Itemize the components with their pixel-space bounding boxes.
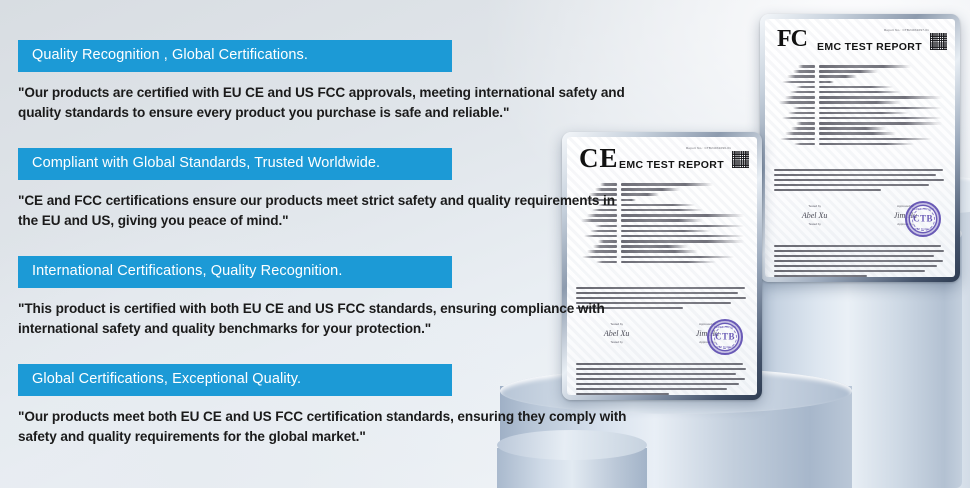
certificate-field-value [819,117,947,120]
signature-tested-by: Tested by Abel Xu Tested by [779,204,850,226]
certificate-field-row [773,86,947,89]
certificate-field-label [773,112,815,115]
certificate-field-row [773,117,947,120]
certificate-field-label [773,122,815,125]
certificate-field-label [773,81,815,84]
certificate-field-label [773,117,815,120]
certificate-field-value [819,127,947,130]
ctb-seal-stamp: CERTIFICATION CTB TEST BUREAU [905,201,941,237]
certificate-field-value [819,96,947,99]
certificate-paper: FC EMC TEST REPORT Report No.: CTB240310… [765,19,955,277]
feature-body-text-3: "This product is certified with both EU … [18,299,638,339]
certificate-field-value [819,101,947,104]
certificate-field-row [773,132,947,135]
seal-arc-top: CERTIFICATION [907,208,939,211]
certificate-field-rows [773,65,947,148]
feature-heading-banner-3: International Certifications, Quality Re… [18,256,452,288]
certificate-field-label [773,132,815,135]
certificate-field-value [819,91,947,94]
certificate-field-value [819,70,947,73]
certificate-text-line [774,255,934,257]
feature-heading-banner-2: Compliant with Global Standards, Trusted… [18,148,452,180]
feature-body-text-1: "Our products are certified with EU CE a… [18,83,638,123]
certificate-field-row [773,70,947,73]
certificate-card-fcc[interactable]: FC EMC TEST REPORT Report No.: CTB240310… [760,14,960,282]
certificate-text-line [774,245,941,247]
signature-caption: Tested by [779,204,850,208]
certificate-field-row [773,143,947,146]
feature-block-3: International Certifications, Quality Re… [18,256,638,339]
certificate-header: FC EMC TEST REPORT Report No.: CTB240310… [765,19,955,63]
certificate-field-row [773,65,947,68]
certificate-field-label [773,127,815,130]
certificate-paragraph [774,169,946,194]
seal-arc-bottom: TEST BUREAU [907,228,939,231]
certificate-text-line [774,270,925,272]
certificate-field-label [773,107,815,110]
certificate-report-number: Report No.: CTB24031096-01 [686,146,731,150]
ctb-seal-stamp: CERTIFICATION CTB TEST BUREAU [707,319,743,355]
certificate-text-line [774,174,936,176]
certificate-field-row [773,81,947,84]
certificate-field-row [773,75,947,78]
feature-block-4: Global Certifications, Exceptional Quali… [18,364,638,447]
certificate-field-value [819,143,947,146]
certificate-field-value [819,81,947,84]
certificate-field-label [773,91,815,94]
certificate-field-label [773,70,815,73]
certificate-text-line [774,250,944,252]
certificate-report-number: Report No.: CTB24031097-01 [884,28,929,32]
seal-arc-top: CERTIFICATION [709,326,741,329]
certificate-text-line [774,184,929,186]
banner-stage: FC EMC TEST REPORT Report No.: CTB240310… [0,0,970,488]
certificate-text-line [774,189,881,191]
certificate-field-row [773,122,947,125]
certificate-text-line [774,265,937,267]
certificate-field-label [773,96,815,99]
marketing-copy-column: Quality Recognition , Global Certificati… [0,0,660,488]
signature-mark: Abel Xu [779,211,850,220]
feature-body-text-2: "CE and FCC certifications ensure our pr… [18,191,638,231]
feature-block-1: Quality Recognition , Global Certificati… [18,40,638,123]
qr-code-icon [732,151,749,168]
certificate-footer-paragraph [774,245,946,277]
seal-arc-bottom: TEST BUREAU [709,346,741,349]
certificate-field-value [819,86,947,89]
seal-text: CTB [715,332,735,342]
certificate-field-row [773,91,947,94]
certificate-field-value [819,138,947,141]
certificate-field-label [773,75,815,78]
certificate-field-value [819,122,947,125]
certificate-field-label [773,101,815,104]
certificate-field-row [773,127,947,130]
certificate-field-row [773,101,947,104]
certificate-field-value [819,75,947,78]
certificate-field-value [819,107,947,110]
certificate-field-row [773,138,947,141]
signature-name: Tested by [779,222,850,226]
certificate-field-row [773,107,947,110]
feature-heading-banner-1: Quality Recognition , Global Certificati… [18,40,452,72]
certificate-field-label [773,86,815,89]
feature-heading-banner-4: Global Certifications, Exceptional Quali… [18,364,452,396]
certificate-title: EMC TEST REPORT [817,41,922,53]
certificate-field-label [773,143,815,146]
certificate-field-value [819,112,947,115]
certificate-text-line [774,169,943,171]
qr-code-icon [930,33,947,50]
certificate-field-value [819,132,947,135]
fcc-logo: FC [777,27,807,51]
certificate-field-label [773,65,815,68]
certificate-field-label [773,138,815,141]
certificate-field-row [773,112,947,115]
certificate-field-row [773,96,947,99]
feature-block-2: Compliant with Global Standards, Trusted… [18,148,638,231]
seal-text: CTB [913,214,933,224]
feature-body-text-4: "Our products meet both EU CE and US FCC… [18,407,638,447]
certificate-text-line [774,260,943,262]
certificate-field-value [819,65,947,68]
certificate-text-line [774,179,944,181]
certificate-text-line [774,275,867,277]
